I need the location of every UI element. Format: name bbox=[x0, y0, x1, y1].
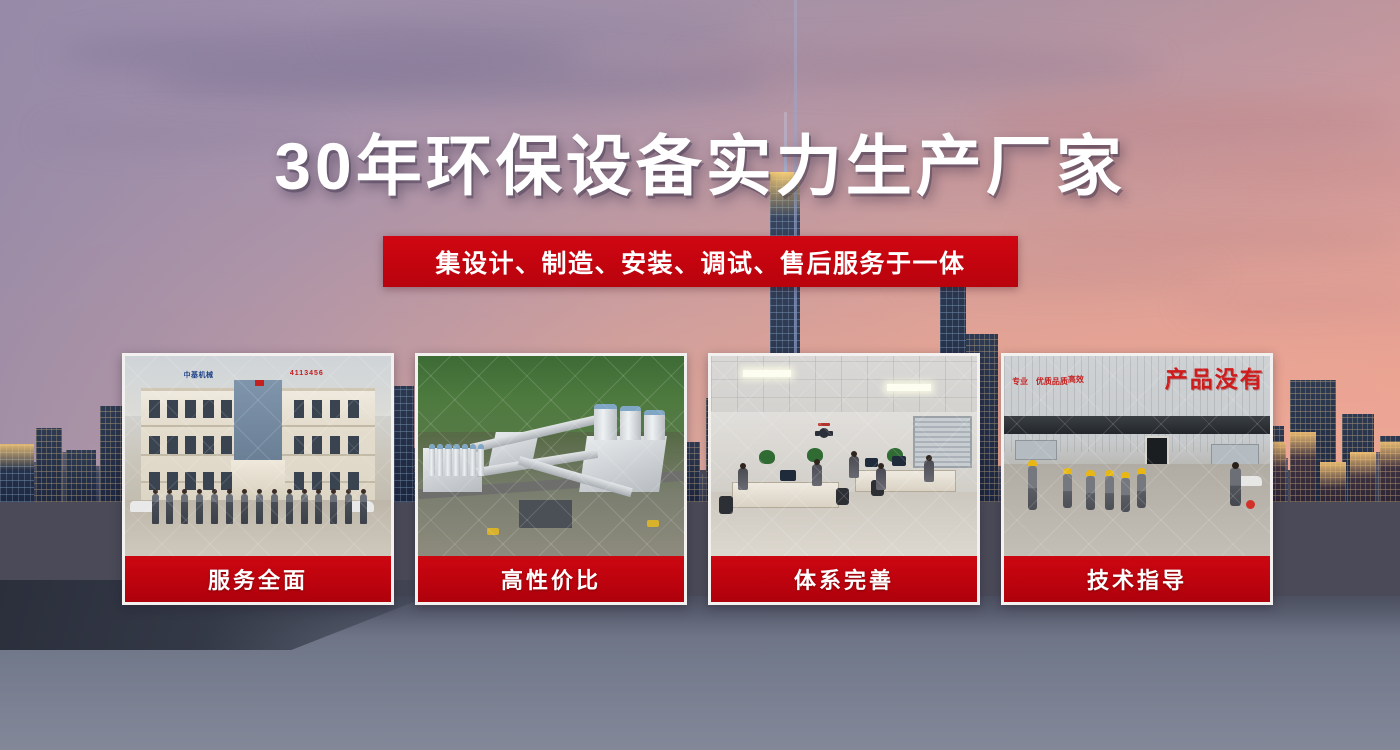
skyscraper bbox=[0, 444, 34, 502]
exhaust-stack bbox=[470, 444, 476, 476]
wall-small-text: 高效 bbox=[1068, 374, 1084, 385]
hero-banner: 30年环保设备实力生产厂家 集设计、制造、安装、调试、售后服务于一体 中基机械 … bbox=[0, 0, 1400, 750]
worker-with-helmet bbox=[1121, 478, 1130, 512]
building-window bbox=[294, 436, 305, 454]
page-title: 30年环保设备实力生产厂家 bbox=[0, 132, 1400, 201]
courtyard-pavement bbox=[125, 500, 391, 556]
office-chair bbox=[719, 496, 733, 514]
card-caption: 服务全面 bbox=[125, 556, 391, 602]
red-helmet-icon bbox=[1246, 500, 1255, 509]
feature-card[interactable]: 中基机械 4113456 服务全面 bbox=[122, 353, 394, 605]
plant-building bbox=[423, 448, 482, 492]
exhaust-stack bbox=[437, 444, 443, 476]
staff-member bbox=[315, 494, 322, 524]
building-window bbox=[221, 472, 232, 490]
staff-member bbox=[271, 494, 278, 524]
flag-icon bbox=[255, 380, 264, 386]
office-building bbox=[141, 388, 375, 504]
office-ceiling bbox=[711, 356, 977, 416]
parked-car bbox=[1238, 476, 1262, 486]
feature-card[interactable]: 体系完善 bbox=[708, 353, 980, 605]
building-top-glow bbox=[1350, 452, 1376, 478]
building-window bbox=[185, 400, 196, 418]
computer-monitor bbox=[892, 456, 906, 466]
photo-company-building: 中基机械 4113456 bbox=[125, 356, 391, 556]
subtitle-banner: 集设计、制造、安装、调试、售后服务于一体 bbox=[383, 236, 1018, 287]
potted-plant bbox=[759, 450, 775, 464]
card-caption: 技术指导 bbox=[1004, 556, 1270, 602]
building-window bbox=[185, 436, 196, 454]
exhaust-stack bbox=[445, 444, 451, 476]
forest-background bbox=[418, 356, 684, 432]
photo-sky bbox=[125, 356, 391, 416]
potted-plant bbox=[807, 448, 823, 462]
card-caption: 高性价比 bbox=[418, 556, 684, 602]
feature-card[interactable]: 产品没有 专业 优质品质 高效 技术指导 bbox=[1001, 353, 1273, 605]
plant-shed bbox=[519, 500, 572, 528]
feature-card-list: 中基机械 4113456 服务全面 bbox=[122, 353, 1278, 605]
parked-car bbox=[130, 501, 156, 512]
building-top-glow bbox=[1290, 432, 1316, 458]
building-window bbox=[167, 400, 178, 418]
office-chair bbox=[836, 488, 849, 505]
photo-office-interior bbox=[711, 356, 977, 556]
building-phone-text: 4113456 bbox=[290, 370, 324, 377]
conveyor-belt bbox=[470, 413, 607, 453]
staff-member bbox=[226, 494, 233, 524]
staff-member bbox=[181, 494, 188, 524]
exhaust-stack bbox=[478, 444, 484, 476]
computer-monitor bbox=[865, 458, 878, 467]
card-caption: 体系完善 bbox=[711, 556, 977, 602]
skyscraper bbox=[1290, 432, 1316, 502]
building-window bbox=[185, 472, 196, 490]
computer-monitor bbox=[780, 470, 796, 481]
office-chair bbox=[871, 480, 884, 496]
staff-member bbox=[211, 494, 218, 524]
building-window bbox=[167, 436, 178, 454]
feature-card[interactable]: 高性价比 bbox=[415, 353, 687, 605]
skyscraper bbox=[1350, 452, 1376, 502]
building-window bbox=[221, 436, 232, 454]
factory-wall bbox=[1004, 356, 1270, 452]
excavator bbox=[647, 520, 659, 527]
building-window bbox=[312, 472, 323, 490]
exhaust-stack bbox=[462, 444, 468, 476]
building-window bbox=[149, 472, 160, 490]
building-window bbox=[203, 472, 214, 490]
staff-member bbox=[360, 494, 367, 524]
staff-member bbox=[286, 494, 293, 524]
factory-yard-ground bbox=[1004, 464, 1270, 556]
building-window bbox=[203, 400, 214, 418]
worker-with-helmet bbox=[1028, 466, 1037, 510]
wall-small-text: 专业 bbox=[1012, 376, 1028, 387]
building-window bbox=[294, 400, 305, 418]
supervisor bbox=[1230, 468, 1241, 506]
skyscraper bbox=[1320, 462, 1346, 502]
ceiling-light bbox=[743, 370, 791, 377]
worker-with-helmet bbox=[1086, 476, 1095, 510]
wall-slogan-text: 产品没有 bbox=[1165, 360, 1265, 394]
building-window bbox=[167, 472, 178, 490]
building-window bbox=[348, 400, 359, 418]
exhaust-stack bbox=[453, 444, 459, 476]
staff-member bbox=[301, 494, 308, 524]
window-blinds bbox=[913, 416, 972, 468]
ceiling-light bbox=[887, 384, 931, 391]
skyscraper bbox=[36, 428, 62, 502]
worker-with-helmet bbox=[1105, 476, 1114, 510]
worker-with-helmet bbox=[1137, 474, 1146, 508]
office-worker bbox=[738, 468, 748, 490]
building-top-glow bbox=[1380, 442, 1400, 468]
plant-building bbox=[579, 436, 667, 492]
office-worker bbox=[849, 456, 859, 478]
building-entrance bbox=[231, 460, 284, 504]
photo-industrial-plant bbox=[418, 356, 684, 556]
building-top-glow bbox=[1320, 462, 1346, 488]
wall-small-text: 优质品质 bbox=[1036, 376, 1068, 387]
office-desk bbox=[732, 482, 838, 508]
storage-silo bbox=[644, 410, 665, 440]
conveyor-belt bbox=[518, 456, 633, 497]
building-lights bbox=[66, 450, 96, 502]
building-top-glow bbox=[0, 444, 34, 470]
office-wall bbox=[711, 412, 977, 492]
building-window bbox=[312, 400, 323, 418]
building-window bbox=[348, 472, 359, 490]
storage-silo bbox=[594, 404, 618, 440]
staff-member bbox=[196, 494, 203, 524]
staff-member bbox=[330, 494, 337, 524]
building-window bbox=[348, 436, 359, 454]
building-window bbox=[294, 472, 305, 490]
staff-member bbox=[152, 494, 159, 524]
office-desk bbox=[855, 470, 956, 492]
conveyor-belt bbox=[476, 449, 598, 477]
excavator bbox=[487, 528, 499, 535]
building-window bbox=[149, 436, 160, 454]
potted-plant bbox=[887, 448, 903, 462]
skyscraper bbox=[66, 450, 96, 502]
building-sign-text: 中基机械 bbox=[184, 370, 214, 380]
building-window bbox=[149, 400, 160, 418]
plant-building bbox=[489, 432, 539, 468]
office-worker bbox=[876, 468, 886, 490]
building-window bbox=[203, 436, 214, 454]
office-worker bbox=[812, 464, 822, 486]
factory-window bbox=[1015, 440, 1058, 460]
skyscraper bbox=[1380, 442, 1400, 502]
staff-member bbox=[256, 494, 263, 524]
plant-road bbox=[418, 471, 684, 500]
building-window bbox=[221, 400, 232, 418]
wall-logo-icon bbox=[809, 422, 839, 444]
staff-member bbox=[241, 494, 248, 524]
staff-member bbox=[166, 494, 173, 524]
worker-with-helmet bbox=[1063, 474, 1072, 508]
parked-car bbox=[348, 501, 374, 512]
building-window bbox=[330, 472, 341, 490]
office-worker bbox=[924, 460, 934, 482]
factory-door bbox=[1145, 436, 1169, 480]
factory-window-band bbox=[1004, 416, 1270, 434]
storage-silo bbox=[620, 406, 641, 440]
building-window bbox=[330, 400, 341, 418]
building-lights bbox=[36, 428, 62, 502]
photo-factory-yard: 产品没有 专业 优质品质 高效 bbox=[1004, 356, 1270, 556]
exhaust-stack bbox=[429, 444, 435, 476]
building-window bbox=[312, 436, 323, 454]
building-window bbox=[330, 436, 341, 454]
staff-member bbox=[345, 494, 352, 524]
building-glass-atrium bbox=[234, 380, 282, 504]
office-floor bbox=[711, 492, 977, 556]
factory-window bbox=[1211, 444, 1259, 466]
